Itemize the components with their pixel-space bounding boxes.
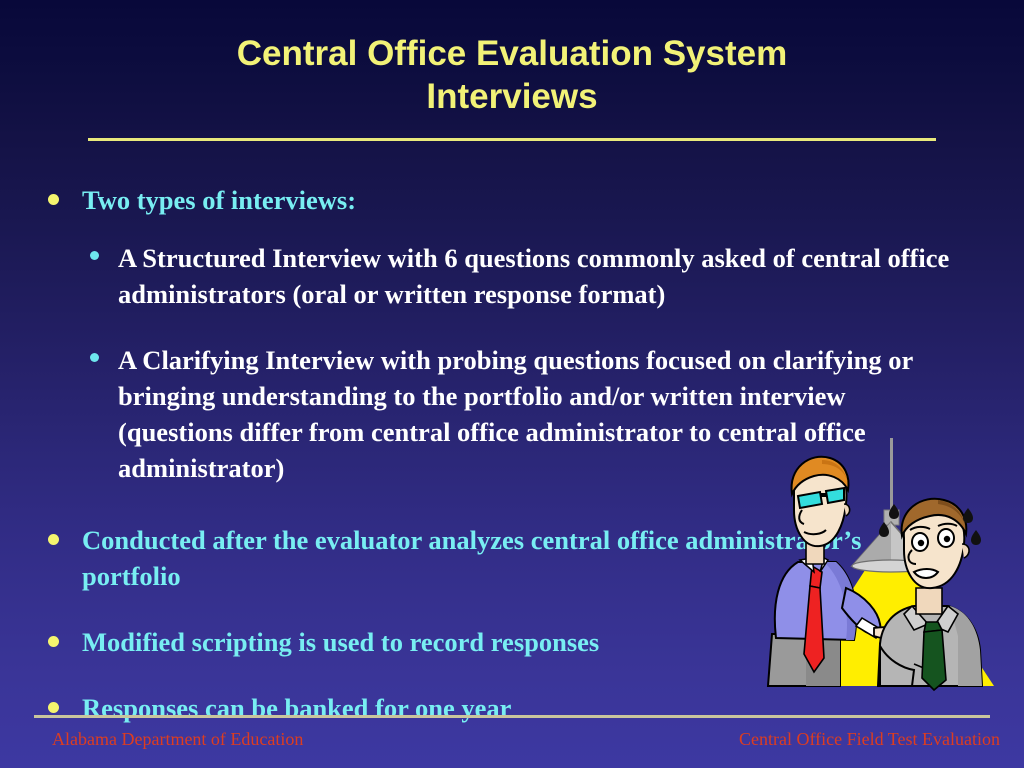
bullet-dot-icon (48, 636, 59, 647)
bullet-dot-icon (90, 251, 99, 260)
bullet-dot-icon (48, 534, 59, 545)
title-line-2: Interviews (0, 75, 1024, 118)
footer-left-label: Alabama Department of Education (52, 729, 303, 750)
list-item: Two types of interviews: (0, 182, 1024, 218)
footer-right-label: Central Office Field Test Evaluation (739, 729, 1000, 750)
spacer (0, 232, 1024, 240)
list-item-label: A Structured Interview with 6 questions … (118, 240, 952, 312)
footer-divider-rule (34, 715, 990, 718)
slide-canvas: Central Office Evaluation System Intervi… (0, 0, 1024, 768)
bullet-dot-icon (90, 353, 99, 362)
list-item-label: Two types of interviews: (82, 182, 964, 218)
bullet-dot-icon (48, 194, 59, 205)
page-title: Central Office Evaluation System Intervi… (0, 32, 1024, 118)
spacer (0, 326, 1024, 342)
title-line-1: Central Office Evaluation System (0, 32, 1024, 75)
title-divider-rule (88, 138, 936, 141)
interrogation-under-lamp-illustration (762, 438, 1010, 696)
bullet-dot-icon (48, 702, 59, 713)
list-item: A Structured Interview with 6 questions … (0, 240, 1024, 312)
